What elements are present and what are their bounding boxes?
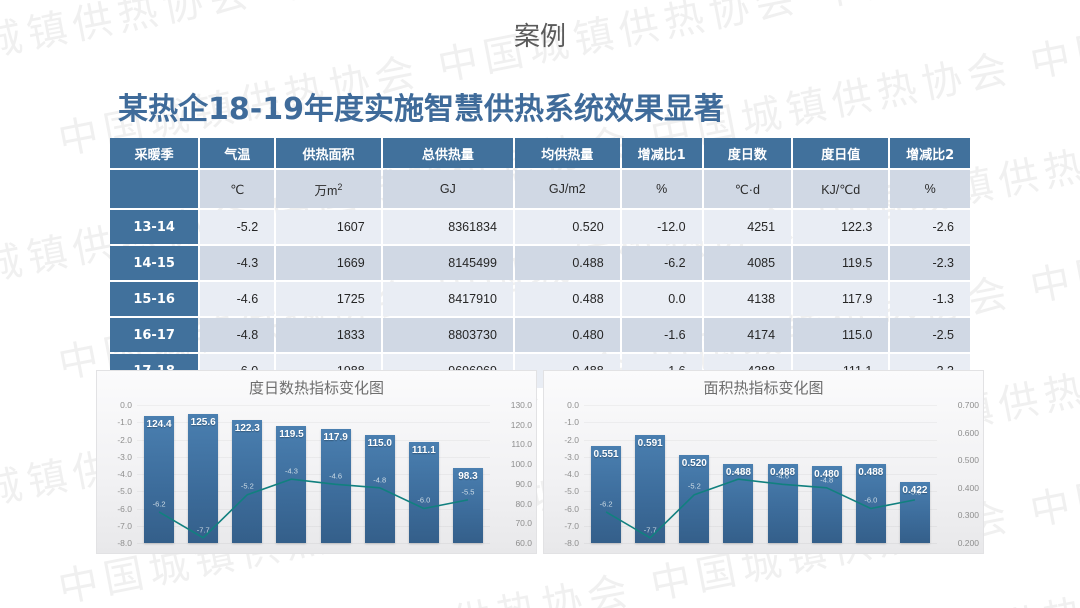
- bar-value-label: 117.9: [321, 432, 351, 443]
- bar-slot: 0.591: [628, 405, 672, 543]
- axis-tick-label: 100.0: [490, 459, 536, 469]
- column-header-average-heat: 均供热量: [515, 138, 620, 168]
- cell-total-heat: 8361834: [383, 210, 513, 244]
- cell-ratio1: -12.0: [622, 210, 702, 244]
- cell-heating-area: 1607: [276, 210, 381, 244]
- axis-tick-label: -3.0: [97, 452, 137, 462]
- cell-heating-area: 1669: [276, 246, 381, 280]
- bar[interactable]: 0.422: [900, 482, 930, 543]
- axis-tick-label: 0.400: [937, 483, 983, 493]
- cell-total-heat: 8803730: [383, 318, 513, 352]
- column-header-ratio1: 增减比1: [622, 138, 702, 168]
- axis-tick-label: -8.0: [544, 538, 584, 548]
- bar-slot: 124.4: [137, 405, 181, 543]
- cell-average-heat: 0.488: [515, 282, 620, 316]
- bar-slot: 0.520: [672, 405, 716, 543]
- bar[interactable]: 111.1: [409, 442, 439, 543]
- right-value-axis: 130.0120.0110.0100.090.080.070.060.0: [490, 405, 536, 543]
- bar[interactable]: 125.6: [188, 414, 218, 543]
- unit-cell-heating-area: 万m2: [276, 170, 381, 208]
- axis-tick-label: -6.0: [97, 504, 137, 514]
- cell-degree-days: 4138: [704, 282, 791, 316]
- cell-average-heat: 0.488: [515, 246, 620, 280]
- axis-tick-label: 120.0: [490, 420, 536, 430]
- axis-tick-label: 0.600: [937, 428, 983, 438]
- column-header-ratio2: 增减比2: [890, 138, 970, 168]
- unit-cell-degree-day-value: KJ/℃d: [793, 170, 888, 208]
- table-unit-row: ℃ 万m2 GJ GJ/m2 % ℃·d KJ/℃d %: [110, 170, 970, 208]
- bar-value-label: 122.3: [232, 423, 262, 434]
- cell-season: 13-14: [110, 210, 198, 244]
- table-row: 16-17 -4.8 1833 8803730 0.480 -1.6 4174 …: [110, 318, 970, 352]
- bar-value-label: 0.520: [679, 458, 709, 469]
- bar[interactable]: 0.551: [591, 446, 621, 543]
- left-value-axis: 0.0-1.0-2.0-3.0-4.0-5.0-6.0-7.0-8.0: [544, 405, 584, 543]
- cell-degree-day-value: 122.3: [793, 210, 888, 244]
- bar[interactable]: 122.3: [232, 420, 262, 543]
- bar-slot: 117.9: [314, 405, 358, 543]
- bar-slot: 115.0: [358, 405, 402, 543]
- table-header: 采暖季 气温 供热面积 总供热量 均供热量 增减比1 度日数 度日值 增减比2: [110, 138, 970, 168]
- unit-cell-temperature: ℃: [200, 170, 274, 208]
- table-row: 13-14 -5.2 1607 8361834 0.520 -12.0 4251…: [110, 210, 970, 244]
- cell-temperature: -4.6: [200, 282, 274, 316]
- cell-degree-day-value: 115.0: [793, 318, 888, 352]
- cell-ratio2: -1.3: [890, 282, 970, 316]
- bar[interactable]: 119.5: [276, 426, 306, 543]
- unit-cell-total-heat: GJ: [383, 170, 513, 208]
- axis-tick-label: -5.0: [97, 486, 137, 496]
- cell-season: 15-16: [110, 282, 198, 316]
- table-header-row: 采暖季 气温 供热面积 总供热量 均供热量 增减比1 度日数 度日值 增减比2: [110, 138, 970, 168]
- bar-value-label: 98.3: [453, 471, 483, 482]
- cell-degree-day-value: 119.5: [793, 246, 888, 280]
- cell-temperature: -4.3: [200, 246, 274, 280]
- cell-heating-area: 1725: [276, 282, 381, 316]
- bar-slot: 0.488: [761, 405, 805, 543]
- axis-tick-label: -2.0: [544, 435, 584, 445]
- bar[interactable]: 0.591: [635, 435, 665, 543]
- bar[interactable]: 124.4: [144, 416, 174, 543]
- bar-value-label: 0.422: [900, 485, 930, 496]
- cell-degree-days: 4085: [704, 246, 791, 280]
- bar-slot: 98.3: [446, 405, 490, 543]
- bar[interactable]: 0.520: [679, 455, 709, 543]
- axis-tick-label: 90.0: [490, 479, 536, 489]
- superscript-two: 2: [337, 181, 342, 191]
- bar-slot: 0.480: [805, 405, 849, 543]
- bar-value-label: 125.6: [188, 417, 218, 428]
- bar-slot: 0.488: [716, 405, 760, 543]
- axis-tick-label: 60.0: [490, 538, 536, 548]
- bar[interactable]: 0.488: [768, 464, 798, 543]
- axis-tick-label: -3.0: [544, 452, 584, 462]
- cell-ratio1: -6.2: [622, 246, 702, 280]
- bar-value-label: 0.488: [723, 467, 753, 478]
- unit-cell-degree-days: ℃·d: [704, 170, 791, 208]
- cell-season: 16-17: [110, 318, 198, 352]
- cell-degree-day-value: 117.9: [793, 282, 888, 316]
- slide-canvas: 中国城镇供热协会 中国城镇供热协会 中国城镇供热协会 中国城镇供热协会 中国城镇…: [0, 0, 1080, 608]
- bar[interactable]: 117.9: [321, 429, 351, 543]
- unit-cell-season: [110, 170, 198, 208]
- unit-cell-ratio1: %: [622, 170, 702, 208]
- degree-day-chart: 度日数热指标变化图 0.0-1.0-2.0-3.0-4.0-5.0-6.0-7.…: [96, 370, 537, 554]
- bar-value-label: 0.488: [768, 467, 798, 478]
- page-title: 某热企18-19年度实施智慧供热系统效果显著: [118, 84, 724, 128]
- axis-tick-label: -2.0: [97, 435, 137, 445]
- cell-season: 14-15: [110, 246, 198, 280]
- bar-series: 0.5510.5910.5200.4880.4880.4800.4880.422: [584, 405, 937, 543]
- column-header-degree-day-value: 度日值: [793, 138, 888, 168]
- chart-title: 度日数热指标变化图: [97, 377, 536, 398]
- cell-degree-days: 4251: [704, 210, 791, 244]
- table-row: 14-15 -4.3 1669 8145499 0.488 -6.2 4085 …: [110, 246, 970, 280]
- axis-tick-label: 0.200: [937, 538, 983, 548]
- axis-tick-label: 70.0: [490, 518, 536, 528]
- cell-heating-area: 1833: [276, 318, 381, 352]
- axis-tick-label: -1.0: [97, 417, 137, 427]
- bar-slot: 0.422: [893, 405, 937, 543]
- cell-temperature: -4.8: [200, 318, 274, 352]
- axis-tick-label: 0.0: [544, 400, 584, 410]
- bar[interactable]: 0.488: [723, 464, 753, 543]
- bar-value-label: 0.591: [635, 438, 665, 449]
- bar-value-label: 0.551: [591, 449, 621, 460]
- axis-tick-label: 110.0: [490, 439, 536, 449]
- axis-tick-label: 0.500: [937, 455, 983, 465]
- bar-value-label: 0.480: [812, 469, 842, 480]
- axis-tick-label: -1.0: [544, 417, 584, 427]
- right-value-axis: 0.7000.6000.5000.4000.3000.200: [937, 405, 983, 543]
- chart-title: 面积热指标变化图: [544, 377, 983, 398]
- bar[interactable]: 115.0: [365, 435, 395, 543]
- case-label: 案例: [0, 16, 1080, 53]
- bar-value-label: 119.5: [276, 429, 306, 440]
- cell-degree-days: 4174: [704, 318, 791, 352]
- axis-tick-label: -8.0: [97, 538, 137, 548]
- axis-tick-label: 0.0: [97, 400, 137, 410]
- cell-temperature: -5.2: [200, 210, 274, 244]
- bar-value-label: 124.4: [144, 419, 174, 430]
- column-header-heating-area: 供热面积: [276, 138, 381, 168]
- column-header-temperature: 气温: [200, 138, 274, 168]
- axis-tick-label: 80.0: [490, 499, 536, 509]
- axis-tick-label: -6.0: [544, 504, 584, 514]
- axis-tick-label: -7.0: [544, 521, 584, 531]
- table-row: 15-16 -4.6 1725 8417910 0.488 0.0 4138 1…: [110, 282, 970, 316]
- cell-ratio2: -2.5: [890, 318, 970, 352]
- bar[interactable]: 0.480: [812, 466, 842, 543]
- column-header-total-heat: 总供热量: [383, 138, 513, 168]
- bar-slot: 111.1: [402, 405, 446, 543]
- cell-ratio2: -2.3: [890, 246, 970, 280]
- cell-ratio1: 0.0: [622, 282, 702, 316]
- bar-slot: 122.3: [225, 405, 269, 543]
- bar[interactable]: 98.3: [453, 468, 483, 544]
- cell-average-heat: 0.480: [515, 318, 620, 352]
- gridline: [584, 543, 937, 544]
- cell-ratio2: -2.6: [890, 210, 970, 244]
- axis-tick-label: 0.700: [937, 400, 983, 410]
- axis-tick-label: -5.0: [544, 486, 584, 496]
- bar-slot: 125.6: [181, 405, 225, 543]
- column-header-season: 采暖季: [110, 138, 198, 168]
- bar[interactable]: 0.488: [856, 464, 886, 543]
- bar-slot: 0.551: [584, 405, 628, 543]
- axis-tick-label: -4.0: [544, 469, 584, 479]
- plot-area: 0.5510.5910.5200.4880.4880.4800.4880.422…: [584, 405, 937, 543]
- area-index-chart: 面积热指标变化图 0.0-1.0-2.0-3.0-4.0-5.0-6.0-7.0…: [543, 370, 984, 554]
- bar-slot: 119.5: [269, 405, 313, 543]
- axis-tick-label: -4.0: [97, 469, 137, 479]
- cell-ratio1: -1.6: [622, 318, 702, 352]
- column-header-degree-days: 度日数: [704, 138, 791, 168]
- bar-value-label: 115.0: [365, 438, 395, 449]
- gridline: [137, 543, 490, 544]
- axis-tick-label: 0.300: [937, 510, 983, 520]
- bar-value-label: 0.488: [856, 467, 886, 478]
- unit-cell-ratio2: %: [890, 170, 970, 208]
- bar-slot: 0.488: [849, 405, 893, 543]
- axis-tick-label: 130.0: [490, 400, 536, 410]
- cell-average-heat: 0.520: [515, 210, 620, 244]
- bar-series: 124.4125.6122.3119.5117.9115.0111.198.3: [137, 405, 490, 543]
- cell-total-heat: 8417910: [383, 282, 513, 316]
- heating-season-table: 采暖季 气温 供热面积 总供热量 均供热量 增减比1 度日数 度日值 增减比2 …: [108, 136, 972, 390]
- bar-value-label: 111.1: [409, 445, 439, 456]
- cell-total-heat: 8145499: [383, 246, 513, 280]
- left-value-axis: 0.0-1.0-2.0-3.0-4.0-5.0-6.0-7.0-8.0: [97, 405, 137, 543]
- axis-tick-label: -7.0: [97, 521, 137, 531]
- plot-area: 124.4125.6122.3119.5117.9115.0111.198.3 …: [137, 405, 490, 543]
- unit-cell-average-heat: GJ/m2: [515, 170, 620, 208]
- charts-row: 度日数热指标变化图 0.0-1.0-2.0-3.0-4.0-5.0-6.0-7.…: [96, 370, 984, 554]
